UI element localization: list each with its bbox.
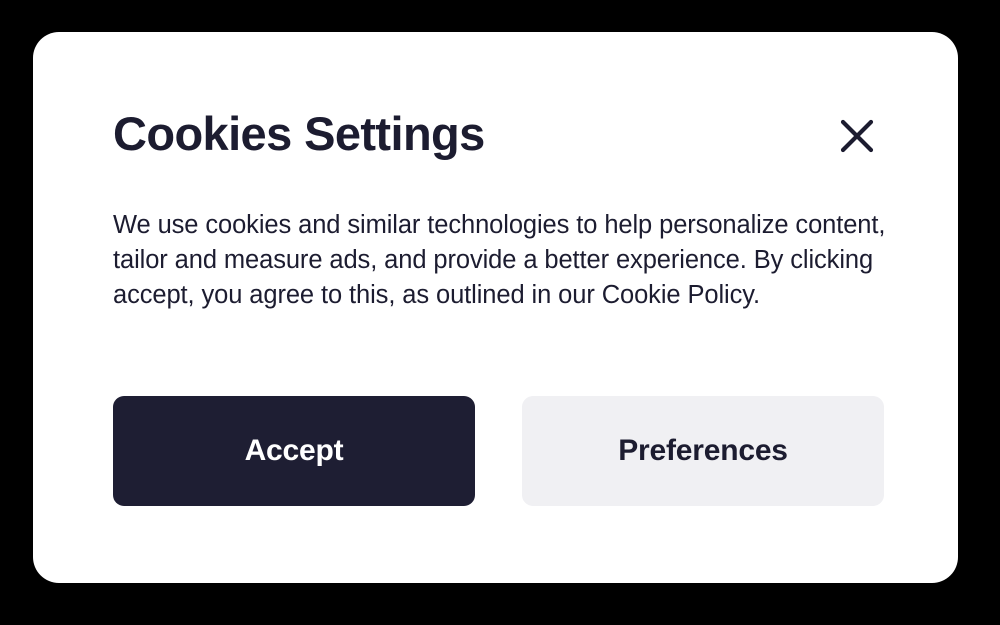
screen: Cookies Settings We use cookies and simi… bbox=[0, 0, 1000, 625]
preferences-button[interactable]: Preferences bbox=[522, 396, 884, 506]
accept-button[interactable]: Accept bbox=[113, 396, 475, 506]
dialog-actions: Accept Preferences bbox=[113, 396, 884, 506]
dialog-description: We use cookies and similar technologies … bbox=[113, 208, 899, 313]
cookies-settings-dialog: Cookies Settings We use cookies and simi… bbox=[33, 32, 958, 583]
close-button[interactable] bbox=[834, 113, 880, 159]
page-title: Cookies Settings bbox=[113, 104, 485, 164]
close-x-icon bbox=[838, 117, 876, 155]
dialog-header: Cookies Settings bbox=[113, 104, 913, 170]
